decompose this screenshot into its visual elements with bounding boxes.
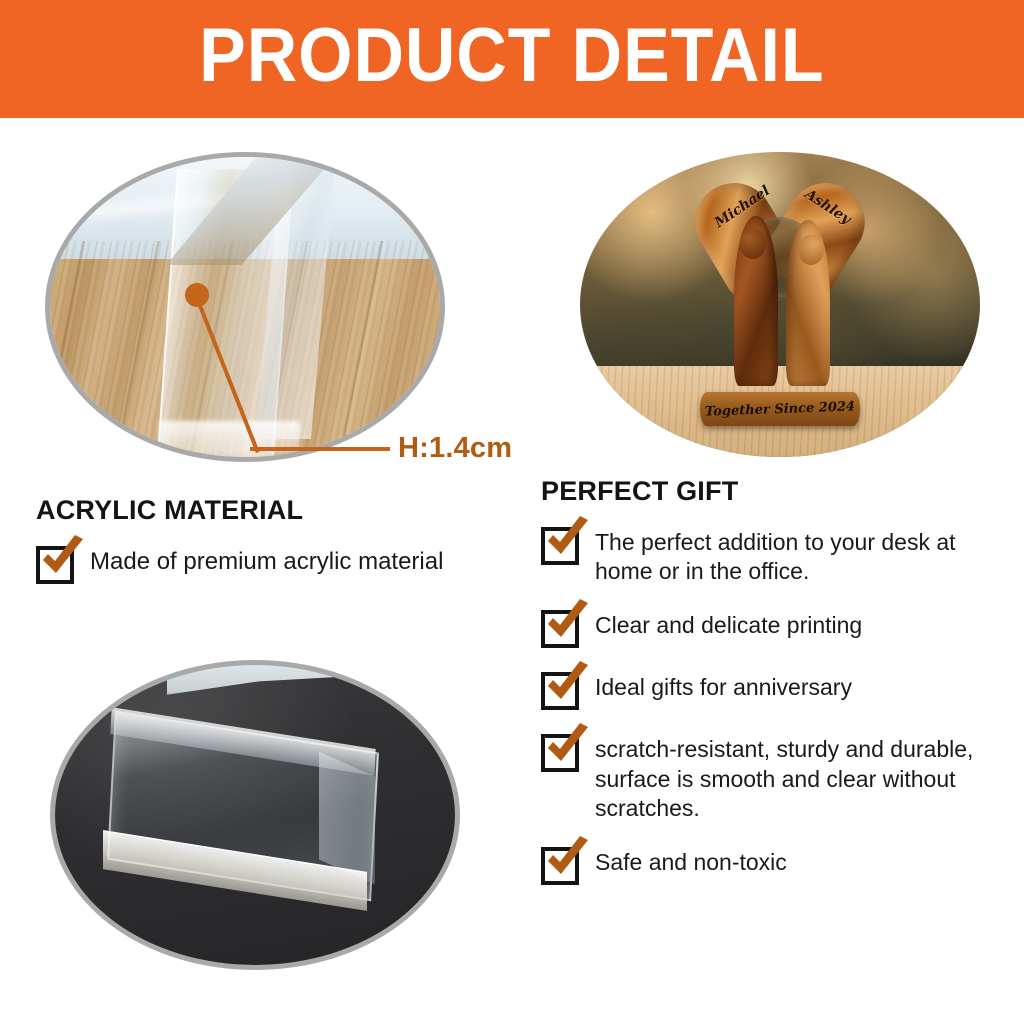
product-detail-page: PRODUCT DETAIL H:1.4cm Michael Ashley [0, 0, 1024, 1024]
checkmark-icon [541, 610, 579, 648]
heart-shape: Michael Ashley [705, 173, 855, 311]
list-item: Made of premium acrylic material [36, 544, 536, 584]
list-item: Clear and delicate printing [541, 608, 1011, 648]
checkmark-icon [541, 672, 579, 710]
list-item-text: The perfect addition to your desk at hom… [595, 525, 1011, 586]
thickness-label: H:1.4cm [398, 432, 512, 465]
list-item-text: Safe and non-toxic [595, 845, 787, 877]
wood-floor-background [50, 157, 440, 457]
photo-couple-sculpture: Michael Ashley Together Since 2024 [580, 152, 980, 457]
list-item-text: Made of premium acrylic material [90, 544, 443, 577]
acrylic-material-feature-list: Made of premium acrylic material [36, 544, 536, 584]
checkmark-icon [541, 847, 579, 885]
section-acrylic-material: ACRYLIC MATERIAL Made of premium acrylic… [36, 495, 536, 584]
list-item: Ideal gifts for anniversary [541, 670, 1011, 710]
list-item-text: Ideal gifts for anniversary [595, 670, 852, 702]
section-perfect-gift: PERFECT GIFT The perfect addition to you… [541, 476, 1011, 907]
figure-woman-head [798, 235, 824, 265]
figure-man-head [740, 229, 766, 259]
engraved-base-text: Together Since 2024 [705, 399, 855, 419]
page-header-banner: PRODUCT DETAIL [0, 0, 1024, 118]
slate-edge-highlight [167, 665, 455, 713]
list-item-text: scratch-resistant, sturdy and durable, s… [595, 732, 1011, 823]
checkmark-icon [541, 734, 579, 772]
section-perfect-gift-heading: PERFECT GIFT [541, 476, 1011, 507]
page-title: PRODUCT DETAIL [199, 18, 824, 100]
checkmark-icon [36, 546, 74, 584]
list-item-text: Clear and delicate printing [595, 608, 862, 640]
section-acrylic-material-heading: ACRYLIC MATERIAL [36, 495, 536, 526]
sculpture-base: Together Since 2024 [700, 392, 860, 426]
list-item: Safe and non-toxic [541, 845, 1011, 885]
perfect-gift-feature-list: The perfect addition to your desk at hom… [541, 525, 1011, 885]
slate-background [55, 665, 455, 965]
thickness-leader-line-horizontal [250, 447, 390, 451]
photo-acrylic-block [50, 660, 460, 970]
sculpture: Michael Ashley Together Since 2024 [690, 173, 870, 426]
checkmark-icon [541, 527, 579, 565]
list-item: scratch-resistant, sturdy and durable, s… [541, 732, 1011, 823]
list-item: The perfect addition to your desk at hom… [541, 525, 1011, 586]
